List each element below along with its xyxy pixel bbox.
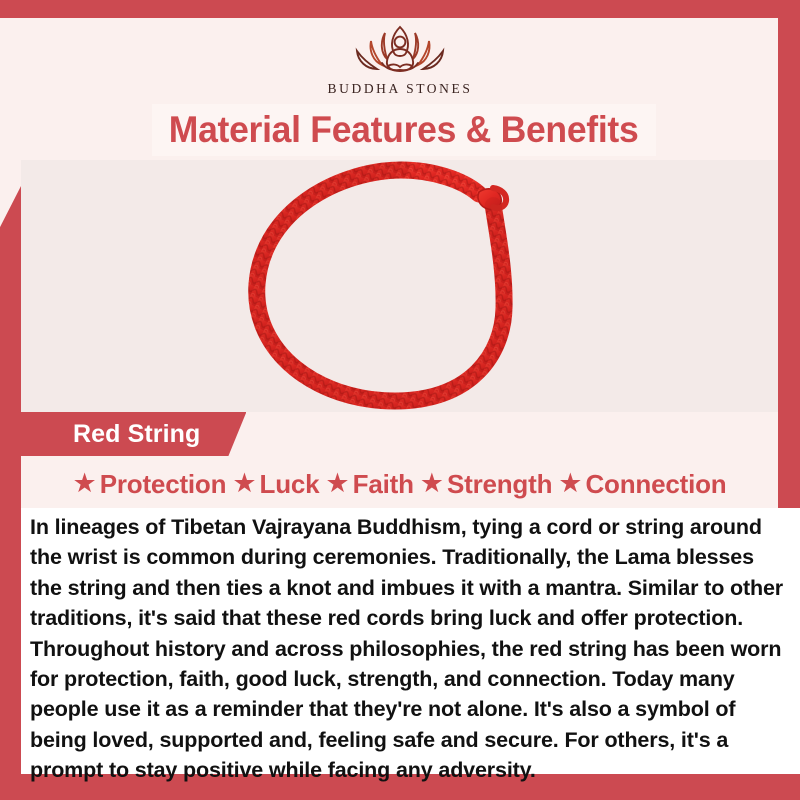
product-name-label: Red String (73, 420, 200, 449)
feature-item-protection: ★ Protection (73, 469, 227, 500)
star-icon: ★ (73, 470, 97, 497)
feature-label: Protection (100, 469, 227, 500)
star-icon: ★ (558, 470, 582, 497)
feature-label: Luck (260, 469, 320, 500)
infographic-canvas: BUDDHA STONES Material Features & Benefi… (0, 0, 800, 800)
star-icon: ★ (325, 470, 349, 497)
description-text: In lineages of Tibetan Vajrayana Buddhis… (30, 512, 784, 786)
decorative-left-strip (0, 186, 21, 774)
lotus-meditation-icon (338, 18, 462, 80)
feature-item-strength: ★ Strength (420, 469, 553, 500)
feature-item-connection: ★ Connection (558, 469, 726, 500)
feature-item-luck: ★ Luck (232, 469, 319, 500)
page-title: Material Features & Benefits (152, 104, 656, 156)
decorative-top-band (0, 0, 800, 18)
feature-label: Connection (585, 469, 726, 500)
brand-name: BUDDHA STONES (328, 81, 473, 97)
description-panel: In lineages of Tibetan Vajrayana Buddhis… (21, 508, 800, 774)
feature-label: Strength (447, 469, 552, 500)
product-name-ribbon: Red String (21, 412, 246, 456)
brand-logo: BUDDHA STONES (0, 18, 800, 104)
feature-label: Faith (353, 469, 414, 500)
star-icon: ★ (420, 470, 444, 497)
feature-item-faith: ★ Faith (325, 469, 413, 500)
page-title-text: Material Features & Benefits (169, 109, 639, 151)
features-list: ★ Protection ★ Luck ★ Faith ★ Strength ★… (21, 462, 778, 506)
star-icon: ★ (232, 470, 256, 497)
product-image-panel (21, 160, 778, 412)
